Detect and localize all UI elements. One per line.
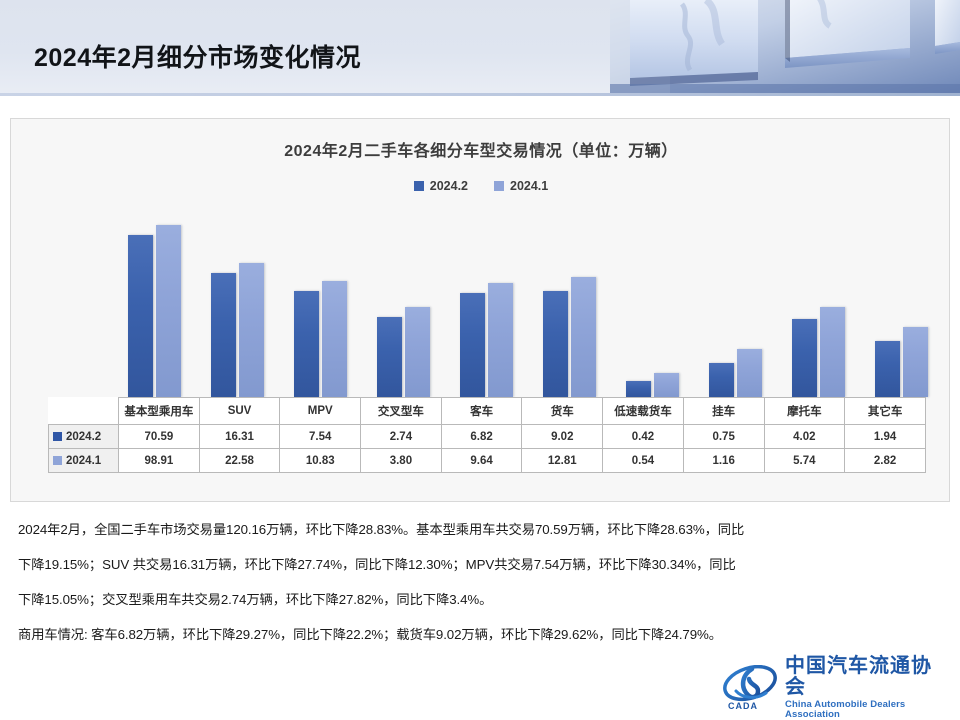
table-column-header: 摩托车 (764, 398, 845, 425)
bar-group (113, 209, 196, 397)
bar-2024-2 (875, 341, 900, 397)
bar-2024-1 (571, 277, 596, 397)
table-cell: 9.02 (522, 425, 603, 449)
summary-text-line: 下降15.05%；交叉型乘用车共交易2.74万辆，环比下降27.82%，同比下降… (18, 582, 944, 617)
table-cell: 5.74 (764, 449, 845, 473)
table-column-header: 客车 (441, 398, 522, 425)
series-swatch-icon (53, 456, 62, 465)
table-row-header: 2024.1 (49, 449, 119, 473)
logo-name-en: China Automobile Dealers Association (785, 700, 950, 720)
bar-group (445, 209, 528, 397)
bar-2024-2 (294, 291, 319, 397)
table-column-header: SUV (199, 398, 280, 425)
table-column-header: 挂车 (683, 398, 764, 425)
chart-data-table: 基本型乘用车SUVMPV交叉型车客车货车低速载货车挂车摩托车其它车2024.27… (48, 397, 926, 473)
bar-2024-2 (792, 319, 817, 397)
bar-2024-1 (488, 283, 513, 397)
series-swatch-icon (53, 432, 62, 441)
table-cell: 1.94 (845, 425, 926, 449)
series-label: 2024.1 (66, 455, 101, 467)
bar-2024-2 (626, 381, 651, 397)
table-column-header: 低速载货车 (603, 398, 684, 425)
bar-2024-1 (239, 263, 264, 397)
bar-group (611, 209, 694, 397)
bar-group (694, 209, 777, 397)
table-column-header: 交叉型车 (361, 398, 442, 425)
table-corner-cell (49, 398, 119, 425)
legend-item-2024-2: 2024.2 (414, 179, 468, 193)
legend-label: 2024.2 (430, 179, 468, 193)
summary-text-line: 下降19.15%；SUV 共交易16.31万辆，环比下降27.74%，同比下降1… (18, 547, 944, 582)
table-cell: 70.59 (119, 425, 200, 449)
legend-swatch-icon (414, 181, 424, 191)
summary-text-line: 商用车情况: 客车6.82万辆，环比下降29.27%，同比下降22.2%；载货车… (18, 617, 944, 652)
bar-2024-1 (903, 327, 928, 397)
bar-group (362, 209, 445, 397)
table-cell: 16.31 (199, 425, 280, 449)
bar-2024-2 (460, 293, 485, 397)
legend-label: 2024.1 (510, 179, 548, 193)
table-row-header: 2024.2 (49, 425, 119, 449)
table-cell: 0.42 (603, 425, 684, 449)
bar-2024-2 (211, 273, 236, 397)
table-cell: 3.80 (361, 449, 442, 473)
table-column-header: MPV (280, 398, 361, 425)
summary-text-line: 2024年2月，全国二手车市场交易量120.16万辆，环比下降28.83%。基本… (18, 512, 944, 547)
bar-group (860, 209, 943, 397)
page-title: 2024年2月细分市场变化情况 (34, 38, 361, 74)
bar-2024-1 (654, 373, 679, 397)
table-cell: 6.82 (441, 425, 522, 449)
table-row: 2024.270.5916.317.542.746.829.020.420.75… (49, 425, 926, 449)
table-column-header: 其它车 (845, 398, 926, 425)
header-divider (0, 93, 960, 96)
table-row: 2024.198.9122.5810.833.809.6412.810.541.… (49, 449, 926, 473)
table-cell: 12.81 (522, 449, 603, 473)
bar-group (777, 209, 860, 397)
logo-name-cn: 中国汽车流通协会 (785, 656, 950, 698)
table-cell: 2.82 (845, 449, 926, 473)
bar-2024-2 (709, 363, 734, 397)
chart-card: 2024年2月二手车各细分车型交易情况（单位：万辆） 2024.2 2024.1… (10, 118, 950, 502)
table-cell: 10.83 (280, 449, 361, 473)
summary-text-block: 2024年2月，全国二手车市场交易量120.16万辆，环比下降28.83%。基本… (18, 512, 944, 652)
bar-2024-2 (543, 291, 568, 397)
bar-2024-1 (737, 349, 762, 397)
chart-legend: 2024.2 2024.1 (11, 179, 951, 193)
table-column-header: 货车 (522, 398, 603, 425)
table-cell: 2.74 (361, 425, 442, 449)
bar-2024-1 (820, 307, 845, 397)
table-cell: 98.91 (119, 449, 200, 473)
series-label: 2024.2 (66, 431, 101, 443)
cada-swoosh-logo-icon: CADA (722, 665, 778, 711)
table-cell: 9.64 (441, 449, 522, 473)
legend-item-2024-1: 2024.1 (494, 179, 548, 193)
logo-abbreviation: CADA (728, 701, 758, 711)
bar-chart-plot-area (113, 209, 943, 397)
bar-group (196, 209, 279, 397)
table-cell: 22.58 (199, 449, 280, 473)
organization-logo: CADA 中国汽车流通协会 China Automobile Dealers A… (722, 662, 950, 714)
table-cell: 0.54 (603, 449, 684, 473)
table-cell: 7.54 (280, 425, 361, 449)
blue-cube-world-map-image (610, 0, 960, 95)
bar-group (279, 209, 362, 397)
table-column-header: 基本型乘用车 (119, 398, 200, 425)
bar-2024-1 (156, 225, 181, 397)
bar-2024-1 (322, 281, 347, 397)
table-cell: 4.02 (764, 425, 845, 449)
table-cell: 0.75 (683, 425, 764, 449)
bar-2024-2 (128, 235, 153, 397)
legend-swatch-icon (494, 181, 504, 191)
table-cell: 1.16 (683, 449, 764, 473)
bar-2024-2 (377, 317, 402, 397)
bar-2024-1 (405, 307, 430, 397)
logo-text-block: 中国汽车流通协会 China Automobile Dealers Associ… (785, 656, 950, 720)
header-banner: 2024年2月细分市场变化情况 (0, 0, 960, 95)
bar-group (528, 209, 611, 397)
chart-title: 2024年2月二手车各细分车型交易情况（单位：万辆） (11, 137, 951, 161)
